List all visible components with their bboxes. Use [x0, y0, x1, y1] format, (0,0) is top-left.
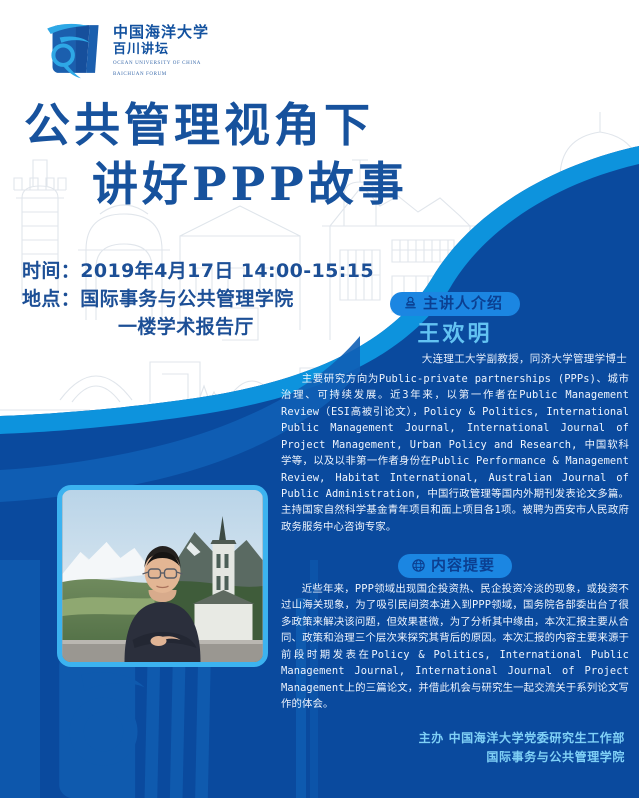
summary-section-badge: 内容提要 — [398, 554, 512, 578]
title-line-2: 讲好PPP故事 — [0, 155, 520, 214]
event-time-value: 2019年4月17日 14:00-15:15 — [80, 260, 374, 282]
logo-english-line1: OCEAN UNIVERSITY OF CHINA — [113, 60, 209, 68]
summary-badge-row: 内容提要 — [281, 554, 629, 578]
speaker-badge-row: 主讲人介绍 — [281, 292, 629, 316]
summary-paragraph: 近些年来，PPP领域出现国企投资热、民企投资冷淡的现象，或投资不过山海关现象，为… — [281, 581, 629, 713]
brand-logo: 中国海洋大学 百川讲坛 OCEAN UNIVERSITY OF CHINA BA… — [40, 18, 209, 80]
speaker-name: 王欢明 — [281, 322, 629, 348]
speaker-title-line: 大连理工大学副教授，同济大学管理学博士 — [281, 352, 629, 368]
organizer-line-1: 主办 中国海洋大学党委研究生工作部 — [281, 729, 625, 748]
summary-text: 近些年来，PPP领域出现国企投资热、民企投资冷淡的现象，或投资不过山海关现象，为… — [281, 581, 629, 713]
event-time-row: 时间：2019年4月17日 14:00-15:15 — [22, 257, 374, 285]
organizer-line-2: 国际事务与公共管理学院 — [281, 748, 625, 767]
event-place-label: 地点： — [22, 288, 80, 310]
baichuan-forum-logo-icon — [40, 18, 104, 80]
section-gap — [281, 535, 629, 551]
event-place-value-2: 一楼学术报告厅 — [118, 316, 254, 338]
speaker-portrait-image — [62, 490, 263, 662]
poster-title: 公共管理视角下 讲好PPP故事 — [0, 96, 520, 214]
right-content-column: 主讲人介绍 王欢明 大连理工大学副教授，同济大学管理学博士 主要研究方向为Pub… — [281, 292, 629, 767]
globe-icon — [411, 558, 426, 573]
event-time-label: 时间： — [22, 260, 80, 282]
logo-university-name: 中国海洋大学 — [113, 24, 209, 41]
summary-badge-label: 内容提要 — [431, 557, 495, 574]
speaker-badge-label: 主讲人介绍 — [423, 295, 503, 312]
speaker-bio-text: 主要研究方向为Public-private partnerships (PPPs… — [281, 371, 629, 535]
event-place-value: 国际事务与公共管理学院 — [80, 288, 293, 310]
speaker-section-badge: 主讲人介绍 — [390, 292, 520, 316]
logo-forum-name: 百川讲坛 — [113, 42, 209, 58]
logo-english-line2: BAICHUAN FORUM — [113, 71, 209, 79]
organizer-block: 主办 中国海洋大学党委研究生工作部 国际事务与公共管理学院 — [281, 729, 629, 767]
title-line-1: 公共管理视角下 — [0, 96, 520, 155]
speaker-portrait — [57, 485, 268, 667]
speaker-bio-paragraph: 主要研究方向为Public-private partnerships (PPPs… — [281, 371, 629, 535]
speaker-person-icon — [403, 296, 418, 311]
poster-root: 中国海洋大学 百川讲坛 OCEAN UNIVERSITY OF CHINA BA… — [0, 0, 639, 798]
